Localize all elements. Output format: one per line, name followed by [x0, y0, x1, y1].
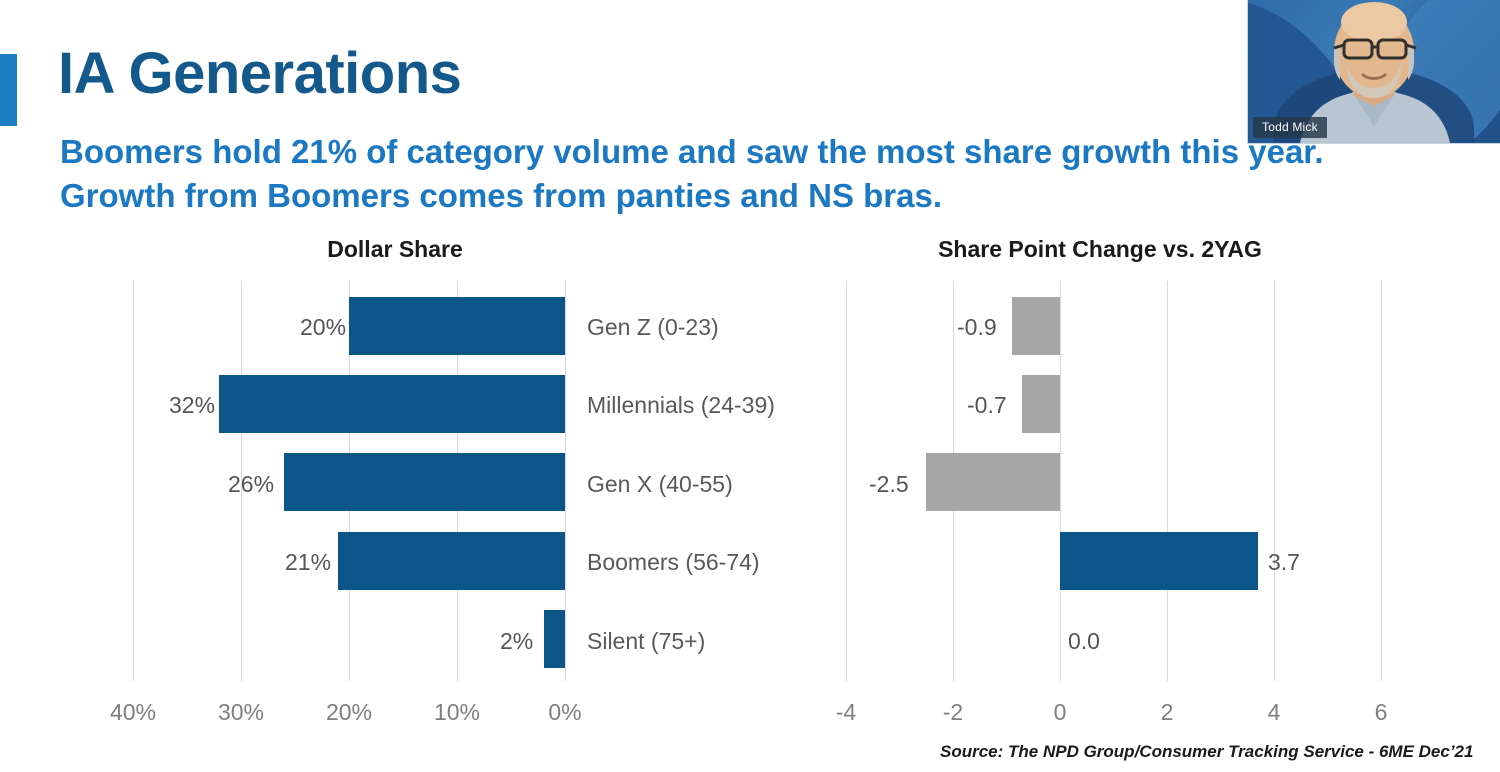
bar-dollar-share-gen-z[interactable] — [349, 297, 565, 355]
value-label-dollar-share-gen-x: 26% — [228, 473, 274, 496]
bar-dollar-share-gen-x[interactable] — [284, 453, 565, 511]
value-label-share-change-gen-z: -0.9 — [957, 316, 997, 339]
xtick-dollar-share-40: 40% — [83, 701, 183, 724]
bar-dollar-share-millennials[interactable] — [219, 375, 565, 433]
page-subtitle: Boomers hold 21% of category volume and … — [60, 130, 1380, 218]
bar-share-change-boomers[interactable] — [1060, 532, 1258, 590]
value-label-dollar-share-silent: 2% — [500, 630, 533, 653]
value-label-share-change-millennials: -0.7 — [967, 394, 1007, 417]
page-title: IA Generations — [58, 44, 461, 105]
gridline-4 — [1274, 281, 1275, 681]
gridline-2 — [1167, 281, 1168, 681]
gridline-6 — [1381, 281, 1382, 681]
gridline-0pct — [565, 281, 566, 681]
category-label-gen-x: Gen X (40-55) — [587, 473, 733, 496]
chart-plot-area-share-point-change — [846, 281, 1382, 681]
category-label-silent: Silent (75+) — [587, 630, 705, 653]
bar-dollar-share-boomers[interactable] — [338, 532, 565, 590]
gridline-40pct — [133, 281, 134, 681]
value-label-dollar-share-gen-z: 20% — [300, 316, 346, 339]
chart-plot-area-dollar-share — [133, 281, 566, 681]
participant-name-label: Todd Mick — [1253, 117, 1327, 138]
xtick-share-change-0: 0 — [1010, 701, 1110, 724]
xtick-dollar-share-0: 0% — [515, 701, 615, 724]
bar-dollar-share-silent[interactable] — [544, 610, 565, 668]
video-participant-tile[interactable]: Todd Mick — [1247, 0, 1500, 144]
xtick-share-change-4: 4 — [1224, 701, 1324, 724]
gridline-neg4 — [846, 281, 847, 681]
gridline-zero — [1060, 281, 1061, 681]
xtick-share-change-6: 6 — [1331, 701, 1431, 724]
value-label-share-change-gen-x: -2.5 — [869, 473, 909, 496]
chart-title-share-point-change: Share Point Change vs. 2YAG — [870, 236, 1330, 263]
xtick-dollar-share-30: 30% — [191, 701, 291, 724]
xtick-share-change-2: 2 — [1117, 701, 1217, 724]
bar-share-change-millennials[interactable] — [1022, 375, 1060, 433]
slide-canvas: IA Generations Boomers hold 21% of categ… — [0, 0, 1500, 772]
xtick-share-change-neg2: -2 — [903, 701, 1003, 724]
chart-title-dollar-share: Dollar Share — [245, 236, 545, 263]
bar-share-change-gen-z[interactable] — [1012, 297, 1060, 355]
title-accent-bar — [0, 54, 17, 126]
xtick-dollar-share-20: 20% — [299, 701, 399, 724]
xtick-dollar-share-10: 10% — [407, 701, 507, 724]
value-label-share-change-boomers: 3.7 — [1268, 551, 1300, 574]
category-label-millennials: Millennials (24-39) — [587, 394, 775, 417]
category-label-boomers: Boomers (56-74) — [587, 551, 760, 574]
value-label-dollar-share-millennials: 32% — [169, 394, 215, 417]
bar-share-change-gen-x[interactable] — [926, 453, 1060, 511]
value-label-share-change-silent: 0.0 — [1068, 630, 1100, 653]
value-label-dollar-share-boomers: 21% — [285, 551, 331, 574]
category-label-gen-z: Gen Z (0-23) — [587, 316, 719, 339]
xtick-share-change-neg4: -4 — [796, 701, 896, 724]
source-footnote: Source: The NPD Group/Consumer Tracking … — [940, 742, 1473, 762]
